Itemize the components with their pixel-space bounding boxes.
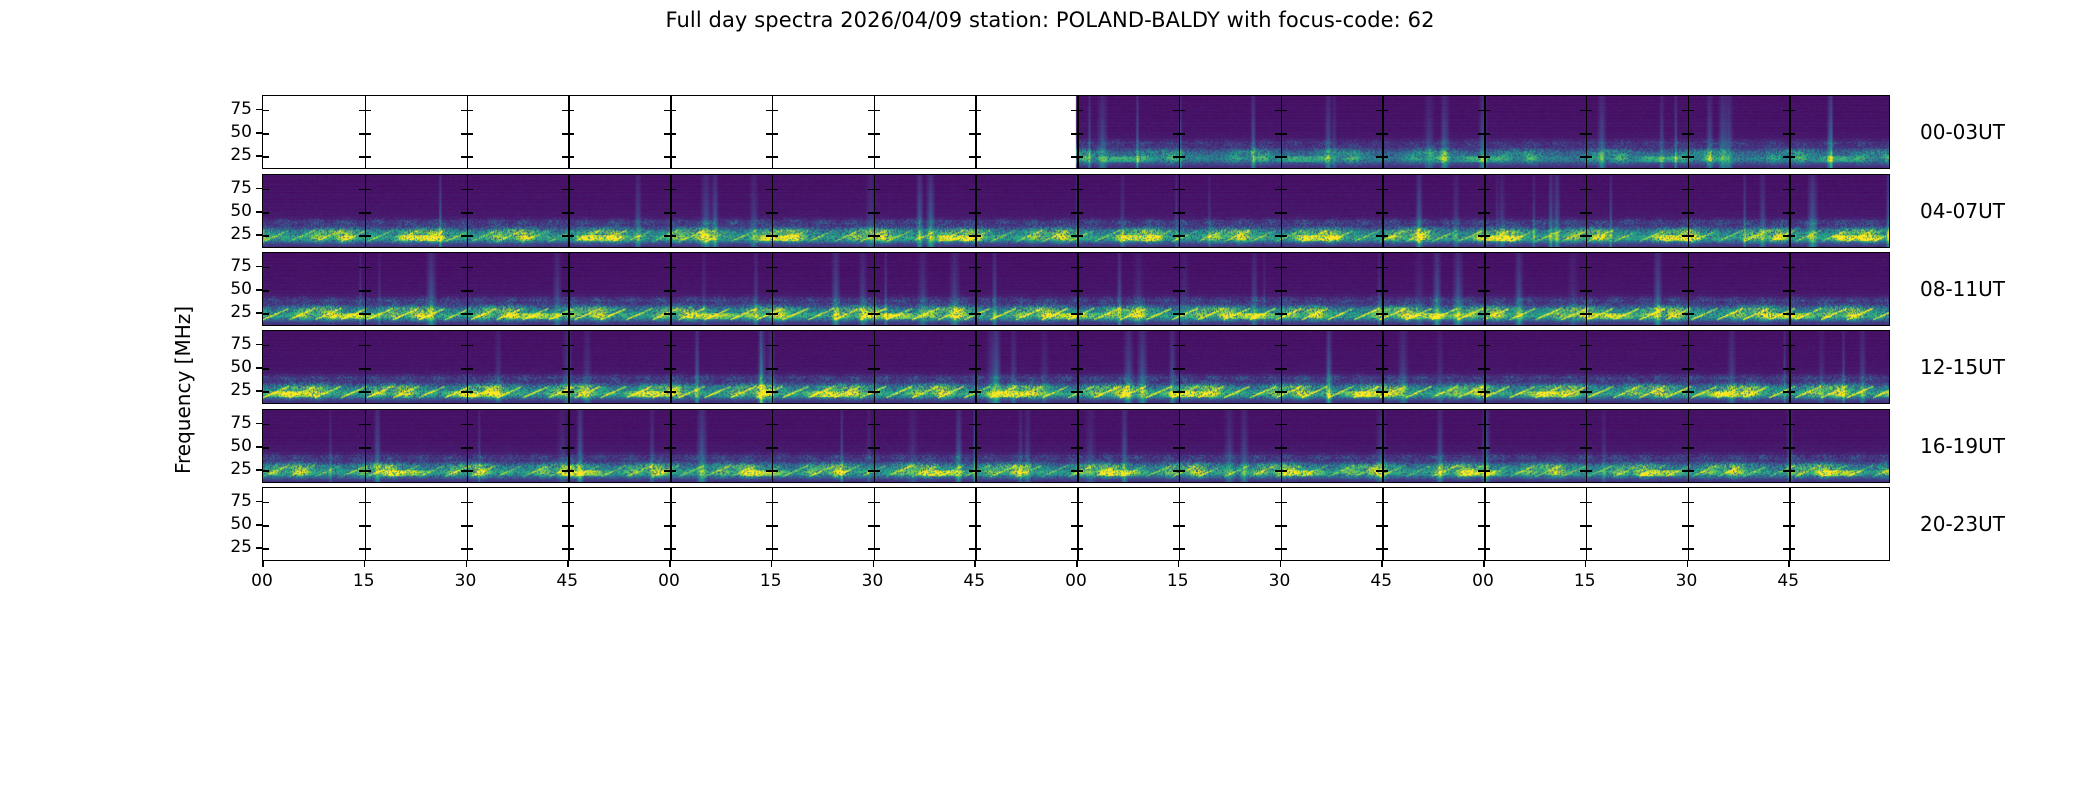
row-label-00-03ut: 00-03UT <box>1920 120 2005 144</box>
row-label-04-07ut: 04-07UT <box>1920 199 2005 223</box>
x-tick-label: 45 <box>556 571 578 591</box>
y-tick-label: 50 <box>200 201 252 221</box>
y-tick-label: 75 <box>200 178 252 198</box>
x-tick-mark <box>873 561 875 567</box>
y-tick-mark <box>256 234 262 236</box>
spectrogram-row <box>262 252 1890 326</box>
y-tick-mark <box>256 132 262 134</box>
x-tick-mark <box>1788 561 1790 567</box>
x-tick-mark <box>364 561 366 567</box>
x-tick-mark <box>567 561 569 567</box>
y-tick-label: 50 <box>200 279 252 299</box>
row-label-12-15ut: 12-15UT <box>1920 355 2005 379</box>
x-tick-label: 30 <box>1676 571 1698 591</box>
spectrogram-image <box>263 253 1889 325</box>
x-tick-mark <box>1585 561 1587 567</box>
x-tick-label: 00 <box>658 571 680 591</box>
x-tick-label: 45 <box>1370 571 1392 591</box>
y-tick-mark <box>256 289 262 291</box>
spectrogram-row <box>262 487 1890 561</box>
y-tick-mark <box>256 367 262 369</box>
x-tick-mark <box>669 561 671 567</box>
spectrogram-row <box>262 95 1890 169</box>
spectrogram-image <box>263 331 1889 403</box>
x-tick-label: 00 <box>1472 571 1494 591</box>
spectrogram-image <box>263 96 1889 168</box>
y-tick-mark <box>256 266 262 268</box>
y-tick-label: 75 <box>200 99 252 119</box>
x-tick-mark <box>1178 561 1180 567</box>
y-tick-label: 50 <box>200 514 252 534</box>
y-tick-mark <box>256 155 262 157</box>
y-tick-label: 50 <box>200 436 252 456</box>
x-tick-mark <box>1687 561 1689 567</box>
y-tick-mark <box>256 469 262 471</box>
y-tick-label: 75 <box>200 334 252 354</box>
y-tick-mark <box>256 390 262 392</box>
x-tick-label: 30 <box>862 571 884 591</box>
spectrogram-row <box>262 409 1890 483</box>
y-tick-label: 25 <box>200 302 252 322</box>
spectrogram-image <box>263 410 1889 482</box>
y-tick-label: 75 <box>200 491 252 511</box>
x-tick-mark <box>974 561 976 567</box>
y-tick-label: 25 <box>200 380 252 400</box>
y-tick-label: 50 <box>200 122 252 142</box>
y-tick-label: 50 <box>200 357 252 377</box>
row-label-16-19ut: 16-19UT <box>1920 434 2005 458</box>
y-tick-label: 25 <box>200 145 252 165</box>
y-tick-mark <box>256 501 262 503</box>
x-tick-mark <box>466 561 468 567</box>
x-tick-label: 15 <box>353 571 375 591</box>
y-tick-mark <box>256 446 262 448</box>
x-tick-mark <box>1280 561 1282 567</box>
x-tick-label: 00 <box>251 571 273 591</box>
x-tick-label: 30 <box>455 571 477 591</box>
y-tick-mark <box>256 423 262 425</box>
x-tick-label: 45 <box>963 571 985 591</box>
y-tick-mark <box>256 344 262 346</box>
x-tick-mark <box>771 561 773 567</box>
y-tick-label: 75 <box>200 413 252 433</box>
row-label-08-11ut: 08-11UT <box>1920 277 2005 301</box>
x-tick-label: 45 <box>1777 571 1799 591</box>
y-axis-label: Frequency [MHz] <box>171 306 195 474</box>
x-tick-mark <box>1381 561 1383 567</box>
x-tick-label: 00 <box>1065 571 1087 591</box>
figure-canvas: Full day spectra 2026/04/09 station: POL… <box>0 0 2100 800</box>
y-tick-label: 25 <box>200 537 252 557</box>
y-tick-mark <box>256 312 262 314</box>
x-tick-label: 15 <box>1574 571 1596 591</box>
x-tick-mark <box>262 561 264 567</box>
x-tick-label: 15 <box>1167 571 1189 591</box>
page-title: Full day spectra 2026/04/09 station: POL… <box>0 8 2100 32</box>
y-tick-mark <box>256 211 262 213</box>
spectrogram-image <box>263 488 1889 560</box>
x-tick-label: 15 <box>760 571 782 591</box>
spectrogram-image <box>263 175 1889 247</box>
y-tick-mark <box>256 188 262 190</box>
spectrogram-row <box>262 330 1890 404</box>
x-tick-mark <box>1076 561 1078 567</box>
y-tick-label: 25 <box>200 224 252 244</box>
y-tick-label: 75 <box>200 256 252 276</box>
y-tick-mark <box>256 547 262 549</box>
x-tick-mark <box>1483 561 1485 567</box>
y-tick-label: 25 <box>200 459 252 479</box>
y-tick-mark <box>256 109 262 111</box>
x-tick-label: 30 <box>1269 571 1291 591</box>
row-label-20-23ut: 20-23UT <box>1920 512 2005 536</box>
y-tick-mark <box>256 524 262 526</box>
spectrogram-row <box>262 174 1890 248</box>
